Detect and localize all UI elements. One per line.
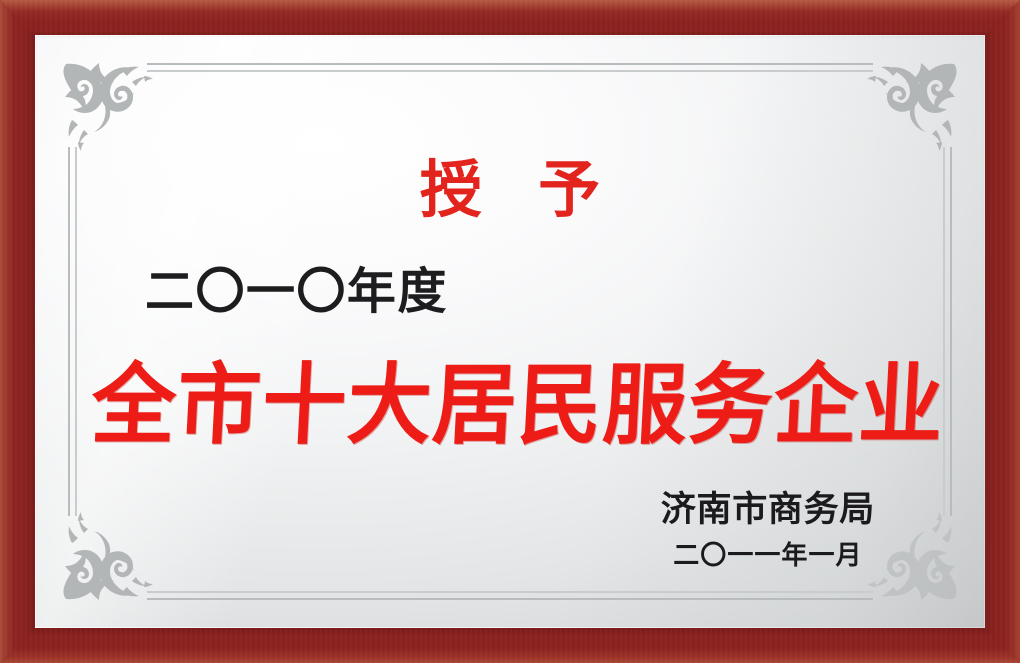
frame-bevel-right <box>985 0 1020 663</box>
award-title: 全市十大居民服务企业 <box>35 361 985 449</box>
award-plaque: 授 予 二〇一〇年度 全市十大居民服务企业 济南市商务局 二〇一一年一月 <box>0 0 1020 663</box>
frame-bevel-top <box>0 0 1020 35</box>
frame-bevel-bottom <box>0 628 1020 663</box>
issuing-authority: 济南市商务局 <box>661 490 875 530</box>
issue-date: 二〇一一年一月 <box>661 542 875 572</box>
award-period-year: 二〇一〇年度 <box>145 265 448 319</box>
issuer-block: 济南市商务局 二〇一一年一月 <box>661 490 875 572</box>
certificate-panel: 授 予 二〇一〇年度 全市十大居民服务企业 济南市商务局 二〇一一年一月 <box>35 35 985 628</box>
frame-bevel-left <box>0 0 35 663</box>
inscription: 授 予 二〇一〇年度 全市十大居民服务企业 济南市商务局 二〇一一年一月 <box>35 35 985 628</box>
award-verb: 授 予 <box>35 159 985 221</box>
